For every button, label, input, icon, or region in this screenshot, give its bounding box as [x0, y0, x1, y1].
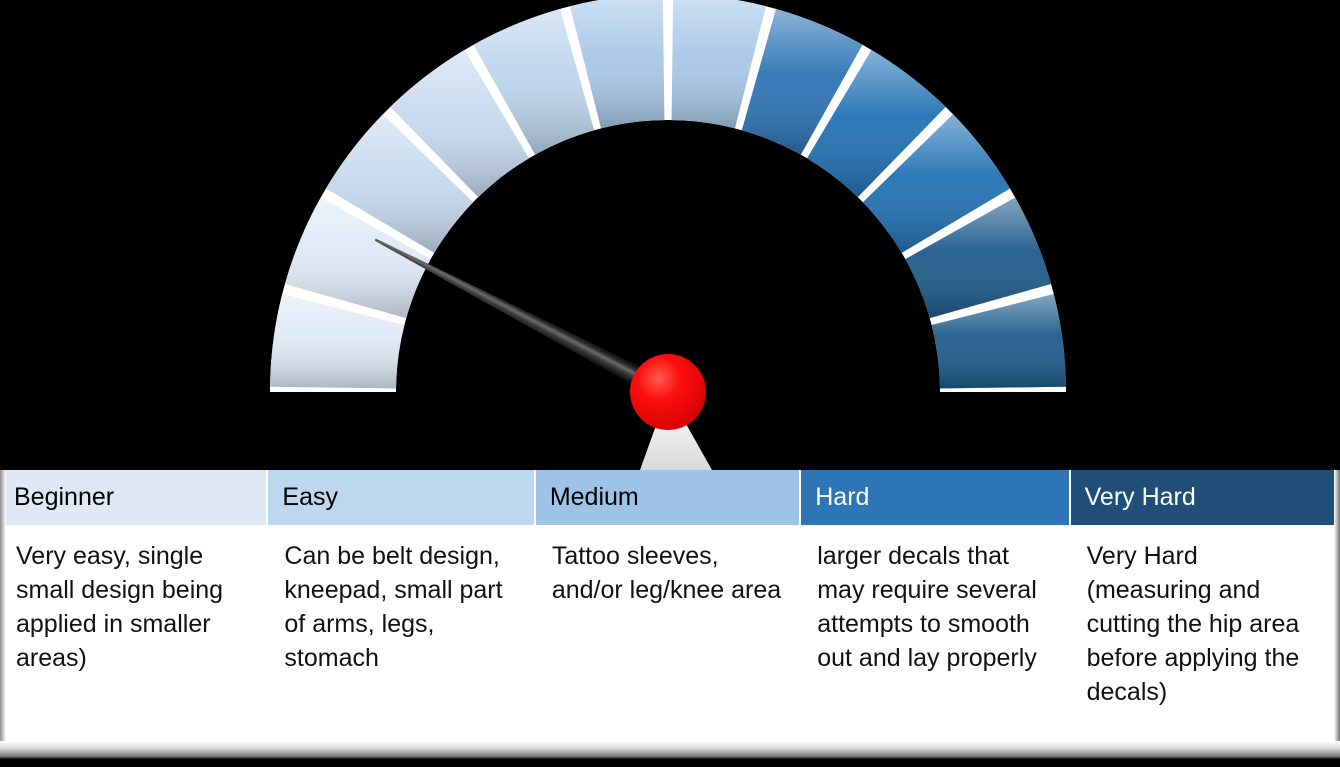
legend-body-very-hard: Very Hard (measuring and cutting the hip…	[1071, 525, 1340, 756]
table-left-shadow	[0, 470, 6, 750]
legend-body-easy: Can be belt design, kneepad, small part …	[268, 525, 533, 756]
legend-column-easy: EasyCan be belt design, kneepad, small p…	[268, 470, 533, 756]
legend-body-medium: Tattoo sleeves, and/or leg/knee area	[536, 525, 799, 756]
legend-body-hard: larger decals that may require several a…	[801, 525, 1068, 756]
legend-header-medium[interactable]: Medium	[536, 470, 799, 525]
table-right-shadow	[1334, 470, 1340, 750]
legend-header-hard[interactable]: Hard	[801, 470, 1068, 525]
legend-header-very-hard[interactable]: Very Hard	[1071, 470, 1340, 525]
gauge-segments	[270, 0, 1066, 392]
table-bottom-shadow	[0, 741, 1340, 759]
legend-header-beginner[interactable]: Beginner	[0, 470, 266, 525]
legend-column-hard: Hardlarger decals that may require sever…	[801, 470, 1068, 756]
legend-body-beginner: Very easy, single small design being app…	[0, 525, 266, 756]
legend-column-very-hard: Very HardVery Hard (measuring and cuttin…	[1071, 470, 1340, 756]
slide-canvas: BeginnerVery easy, single small design b…	[0, 0, 1340, 767]
gauge-panel	[0, 0, 1340, 470]
difficulty-legend-table: BeginnerVery easy, single small design b…	[0, 470, 1340, 756]
difficulty-gauge	[0, 0, 1340, 470]
legend-header-easy[interactable]: Easy	[268, 470, 533, 525]
legend-column-beginner: BeginnerVery easy, single small design b…	[0, 470, 266, 756]
needle-hub	[630, 354, 706, 430]
legend-column-medium: MediumTattoo sleeves, and/or leg/knee ar…	[536, 470, 799, 756]
